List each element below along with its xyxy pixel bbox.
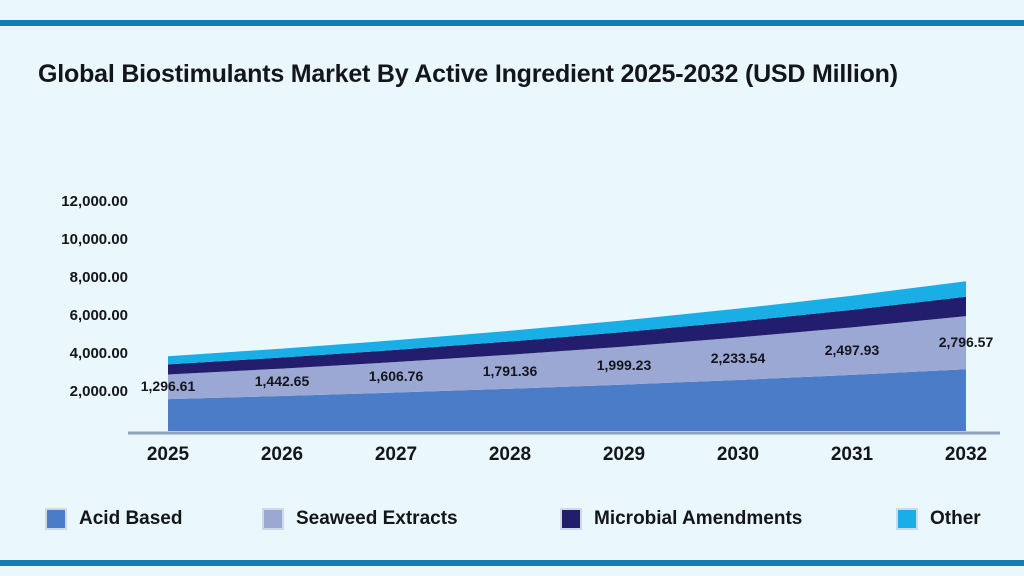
data-label: 2,497.93 [792, 342, 912, 358]
y-axis-tick-label: 8,000.00 [70, 269, 128, 286]
y-axis-tick-label: 12,000.00 [61, 193, 128, 210]
x-axis-tick-label: 2030 [678, 444, 798, 466]
data-label: 1,442.65 [222, 373, 342, 389]
y-axis-labels: 2,000.004,000.006,000.008,000.0010,000.0… [0, 0, 128, 576]
x-axis-tick-label: 2026 [222, 444, 342, 466]
x-axis-tick-label: 2031 [792, 444, 912, 466]
y-axis-tick-label: 6,000.00 [70, 307, 128, 324]
legend-item[interactable]: Microbial Amendments [560, 508, 802, 530]
x-axis-tick-label: 2029 [564, 444, 684, 466]
legend-label: Microbial Amendments [594, 508, 802, 530]
legend-item[interactable]: Acid Based [45, 508, 182, 530]
x-axis-tick-label: 2027 [336, 444, 456, 466]
legend-item[interactable]: Other [896, 508, 981, 530]
legend-swatch-icon [560, 508, 582, 530]
legend-label: Seaweed Extracts [296, 508, 458, 530]
legend-item[interactable]: Seaweed Extracts [262, 508, 458, 530]
data-label: 1,999.23 [564, 357, 684, 373]
data-label: 1,791.36 [450, 363, 570, 379]
data-label: 1,606.76 [336, 368, 456, 384]
legend-swatch-icon [896, 508, 918, 530]
chart-title: Global Biostimulants Market By Active In… [38, 60, 898, 89]
chart-legend: Acid BasedSeaweed ExtractsMicrobial Amen… [0, 500, 1024, 542]
legend-swatch-icon [262, 508, 284, 530]
legend-label: Acid Based [79, 508, 182, 530]
data-label: 1,296.61 [108, 378, 228, 394]
bottom-divider-rule [0, 560, 1024, 566]
x-axis-tick-label: 2028 [450, 444, 570, 466]
chart-page: Global Biostimulants Market By Active In… [0, 0, 1024, 576]
legend-swatch-icon [45, 508, 67, 530]
y-axis-tick-label: 10,000.00 [61, 231, 128, 248]
data-label: 2,233.54 [678, 350, 798, 366]
x-axis-tick-label: 2032 [906, 444, 1024, 466]
data-label: 2,796.57 [906, 334, 1024, 350]
top-divider-rule [0, 20, 1024, 26]
legend-label: Other [930, 508, 981, 530]
x-axis-tick-label: 2025 [108, 444, 228, 466]
y-axis-tick-label: 4,000.00 [70, 345, 128, 362]
